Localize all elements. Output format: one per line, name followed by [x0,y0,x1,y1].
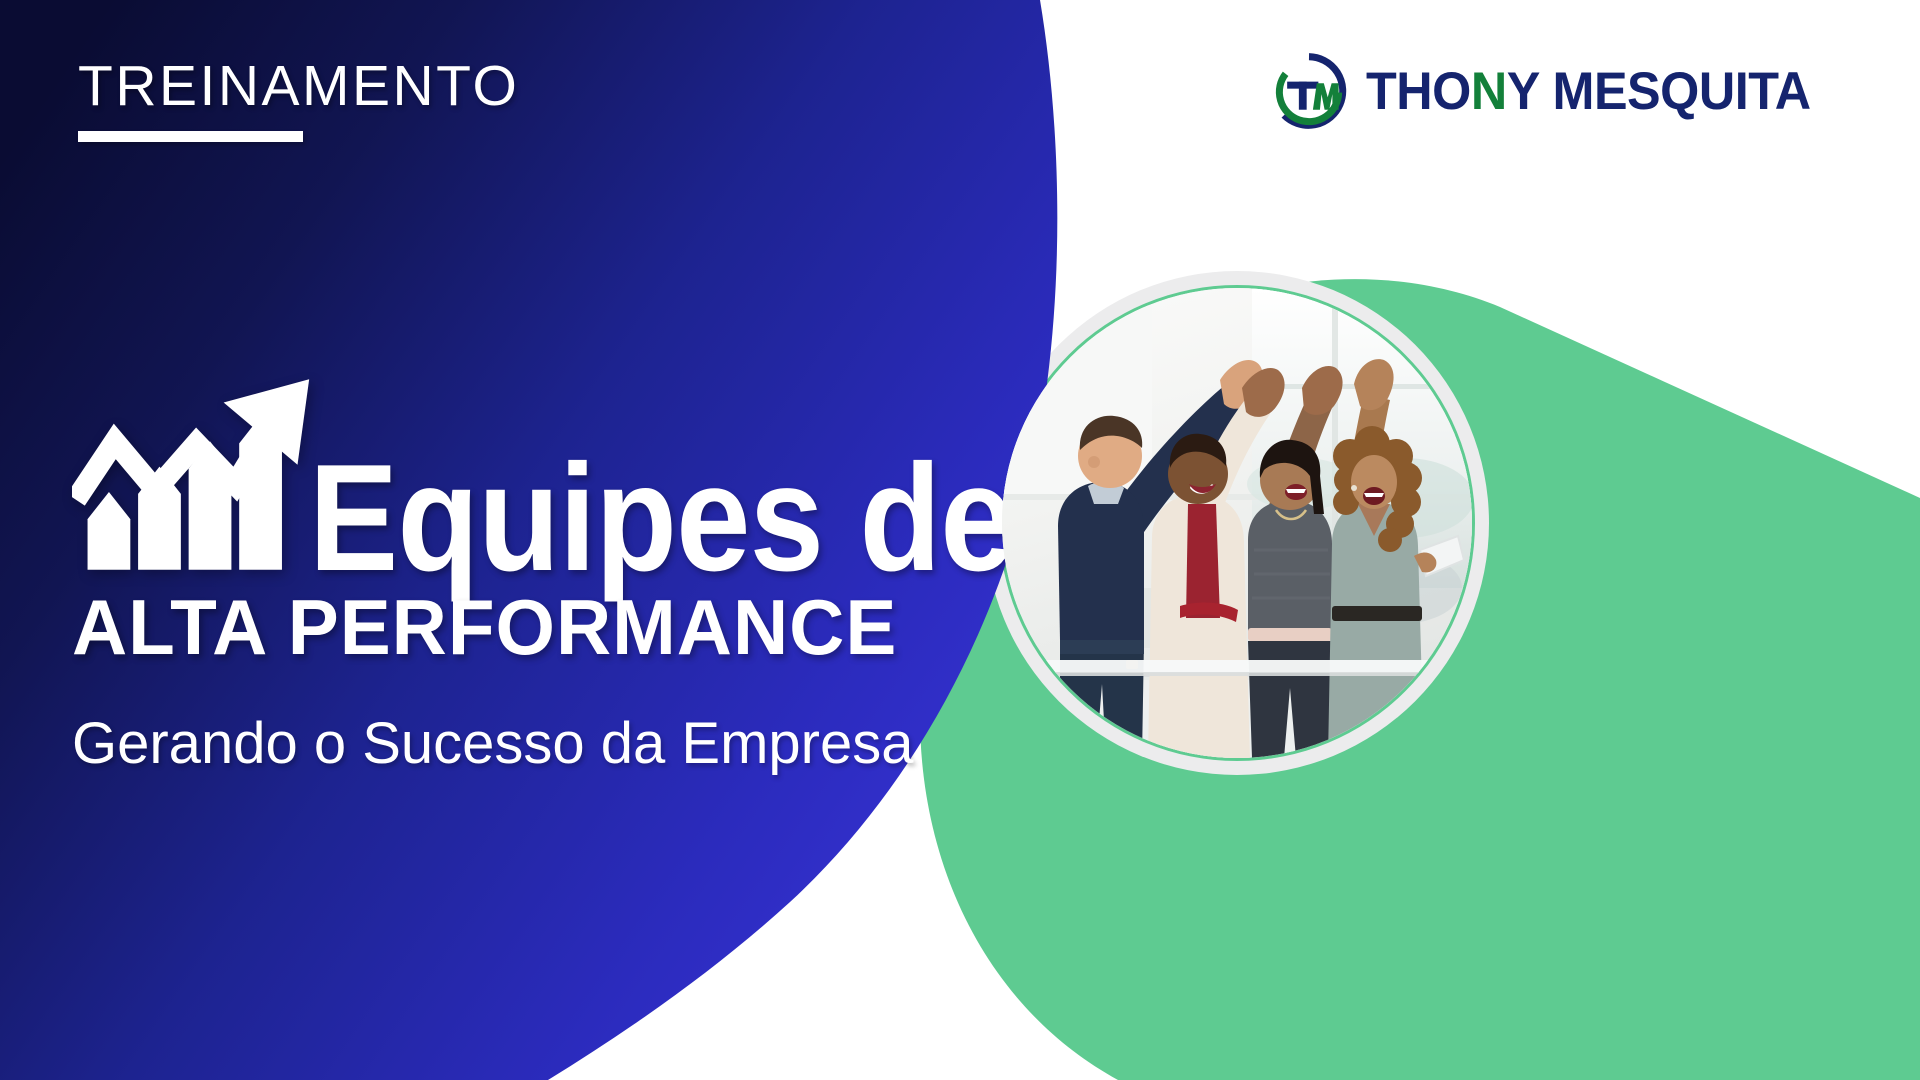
title-line-1: Equipes de [309,453,1014,584]
eyebrow-label: TREINAMENTO [78,58,519,115]
eyebrow-underline-bar [78,131,303,142]
brand-name-part-5: SQUITA [1627,62,1811,121]
title-tagline: Gerando o Sucesso da Empresa [72,710,972,777]
growth-bar-chart-arrow-icon [72,375,315,570]
team-photo [1002,288,1472,758]
brand-name-part-4: E [1594,62,1627,121]
eyebrow-block: TREINAMENTO [78,58,519,142]
brand-name: THONY MESQUITA [1366,65,1811,118]
brand-name-part-2: N [1471,62,1507,121]
slide-canvas: TREINAMENTO THONY MESQUITA [0,0,1920,1080]
team-photo-scene [1002,288,1472,758]
brand-name-part-3: Y M [1507,62,1594,121]
tm-circle-monogram-icon [1270,52,1348,130]
title-row-primary: Equipes de [72,370,972,570]
title-line-2: ALTA PERFORMANCE [72,588,954,666]
title-block: Equipes de ALTA PERFORMANCE Gerando o Su… [72,370,972,777]
brand-name-part-1: THO [1366,62,1471,121]
brand-logo[interactable]: THONY MESQUITA [1270,52,1834,130]
